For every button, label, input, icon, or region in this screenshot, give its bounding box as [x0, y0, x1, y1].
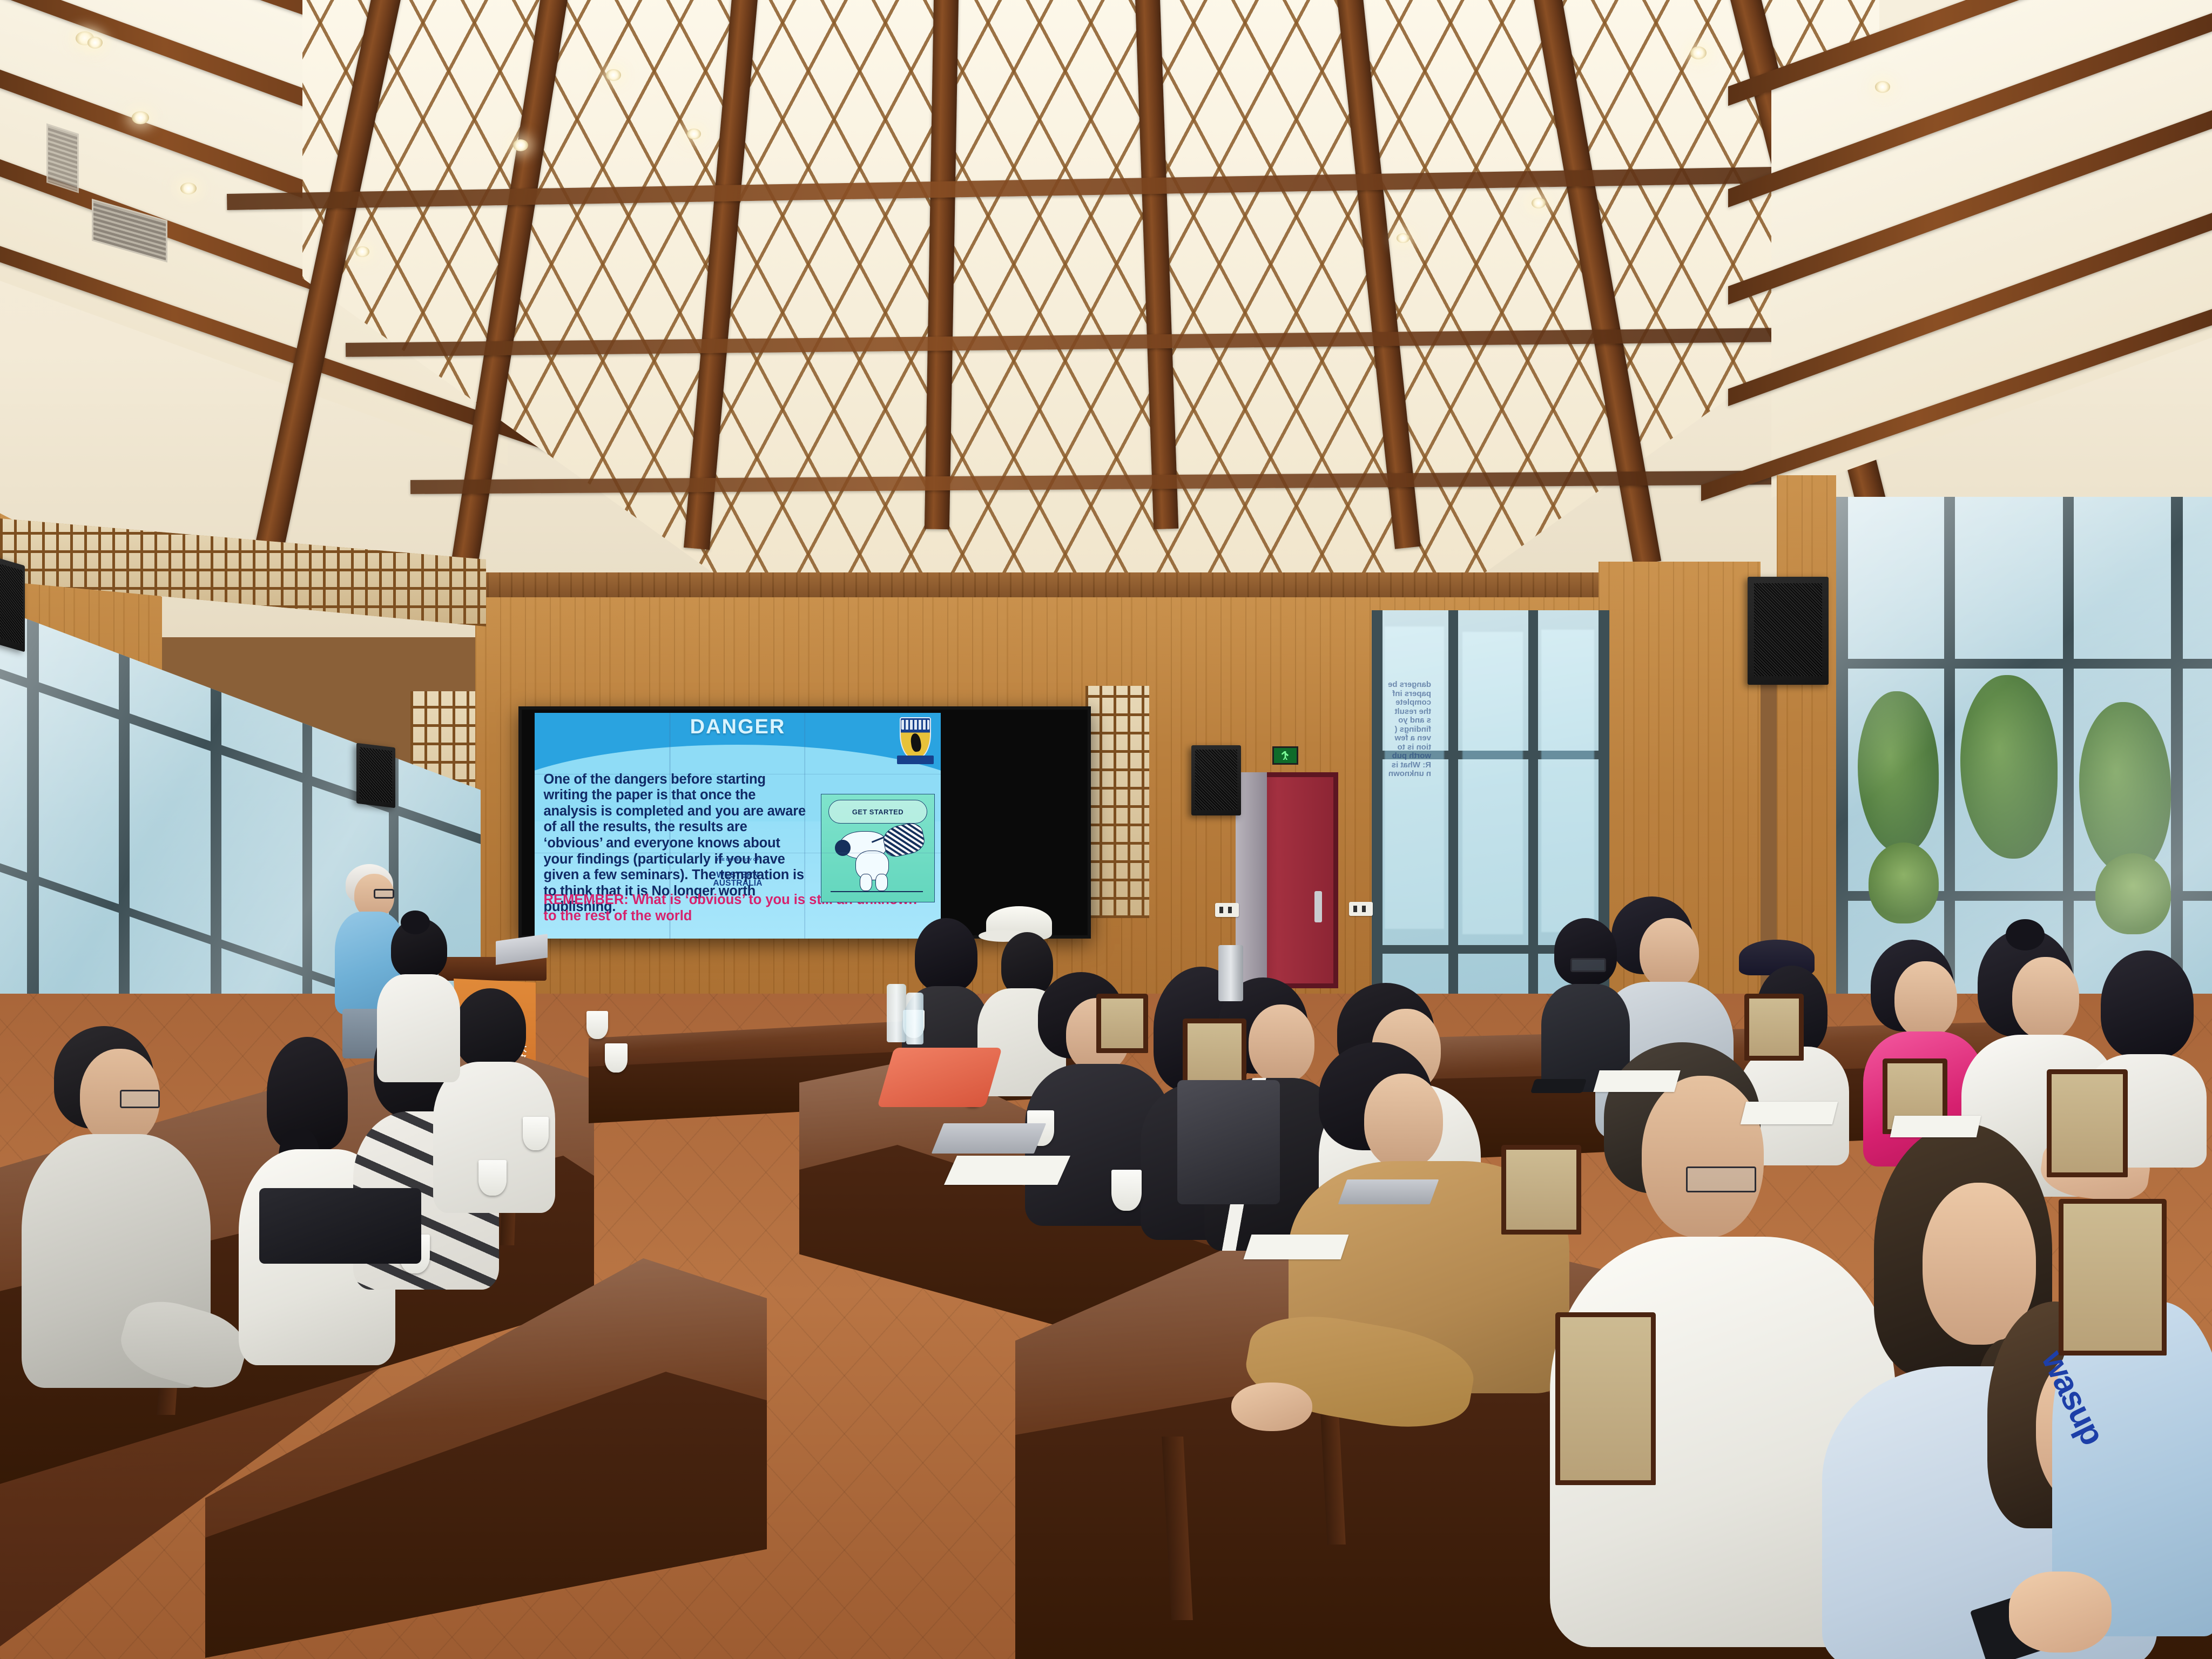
wall-lattice-panel-right [1085, 686, 1149, 918]
attendee-glasses [1570, 958, 1606, 972]
presentation-screen: DANGER THE UNIVERSITY OF WESTERN AUSTRAL… [518, 706, 1091, 939]
notebook-page[interactable] [1741, 1102, 1838, 1124]
attendee-head [1640, 918, 1699, 988]
ceiling-downlight [87, 37, 103, 49]
paper-cup[interactable] [478, 1160, 507, 1196]
ceiling-downlight [1875, 81, 1890, 93]
paper-cup[interactable] [523, 1117, 549, 1150]
chair[interactable] [1501, 1145, 1581, 1235]
attendee-glasses [120, 1090, 160, 1108]
wall-speaker-back-left [1191, 745, 1241, 815]
emergency-exit-sign [1272, 746, 1298, 765]
presenter-glasses [374, 889, 394, 899]
chair[interactable] [1744, 994, 1804, 1061]
paper-cup[interactable] [605, 1043, 628, 1073]
wall-speaker-right [1748, 577, 1829, 685]
black-bag[interactable] [259, 1188, 421, 1264]
slide-title: DANGER [535, 716, 941, 739]
laptop[interactable] [932, 1123, 1047, 1154]
wall-outlet-left[interactable] [1215, 903, 1239, 917]
door-handle[interactable] [1314, 891, 1322, 922]
ceiling-downlight [132, 111, 149, 124]
water-bottle[interactable] [906, 993, 923, 1044]
chair[interactable] [2059, 1199, 2167, 1355]
attendee-hand [1231, 1382, 1312, 1431]
attendee-hand [2009, 1572, 2112, 1653]
paper-cup[interactable] [586, 1011, 608, 1039]
running-man-icon [1281, 751, 1290, 760]
attendee-top [377, 974, 460, 1082]
ceiling-downlight [1397, 233, 1410, 243]
attendee-hair [455, 988, 526, 1068]
attendee-head [1642, 1076, 1764, 1238]
attendee-hair [915, 918, 977, 992]
notebook-page[interactable] [1593, 1070, 1680, 1092]
snoopy-leg [875, 874, 888, 891]
ceiling-downlight [180, 183, 197, 194]
seminar-room-photo: dangers be papers inf complete the resul… [0, 0, 2212, 1659]
snoopy-bindle-bag [881, 821, 927, 859]
water-bottle[interactable] [887, 984, 906, 1042]
wall-outlet-right[interactable] [1349, 902, 1373, 916]
ceiling-downlight [355, 246, 369, 257]
attendee-grey-shirt-glasses [16, 1026, 232, 1458]
attendee-bun [401, 911, 430, 934]
orange-paper-bag[interactable] [877, 1048, 1002, 1107]
chair[interactable] [2047, 1069, 2128, 1177]
attendee-head [1364, 1074, 1443, 1169]
snoopy-leg [860, 874, 872, 891]
attendee-glasses [1686, 1166, 1756, 1192]
wall-speaker-far-left [0, 558, 25, 652]
attendee-seated-near-presenter [372, 918, 463, 1096]
attendee-bun [2006, 919, 2045, 950]
attendee-head [2012, 957, 2079, 1039]
wall-speaker-left [356, 743, 395, 808]
snoopy-cartoon-panel: GET STARTED [821, 794, 935, 902]
attendee-hair [2101, 950, 2194, 1058]
attendee-head [1894, 961, 1957, 1038]
uwa-crest [896, 717, 934, 785]
thermos-flask[interactable] [1218, 945, 1243, 1001]
laptop[interactable] [1338, 1179, 1439, 1204]
back-wall-upper-trim [475, 572, 1609, 597]
ceiling-downlight [513, 139, 528, 151]
attendee-hair [1554, 918, 1617, 985]
chair[interactable] [1555, 1312, 1656, 1485]
grey-jacket-on-chair [1177, 1080, 1280, 1204]
ceiling-downlight [1690, 46, 1707, 59]
slide-content: DANGER THE UNIVERSITY OF WESTERN AUSTRAL… [535, 713, 941, 939]
get-started-callout: GET STARTED [828, 800, 928, 824]
notebook-page[interactable] [944, 1156, 1070, 1185]
smartphone-on-table[interactable] [1530, 1079, 1587, 1093]
paper-cup[interactable] [1111, 1170, 1142, 1211]
chair[interactable] [1096, 994, 1148, 1053]
ceiling-air-vent [46, 123, 79, 193]
ceiling-downlight [687, 129, 701, 139]
ceiling-downlight [1532, 198, 1546, 208]
notebook-page[interactable] [1244, 1235, 1349, 1259]
snoopy-ear [835, 840, 851, 856]
notebook-page[interactable] [1890, 1116, 1981, 1137]
snoopy-ground-line [831, 891, 923, 892]
ceiling-downlight [606, 69, 621, 81]
